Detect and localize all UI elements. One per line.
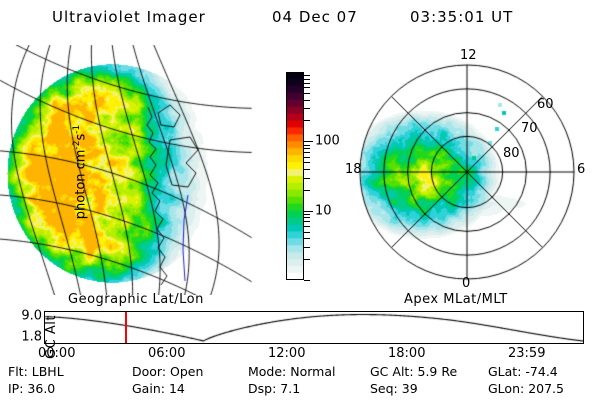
colorbar-tick: [304, 226, 310, 227]
colorbar-tick-label: 100: [315, 135, 340, 148]
colorbar-tick: [304, 100, 310, 101]
colorbar-axis-label: photon cm-2s-1: [72, 72, 88, 272]
status-field-label: Dsp:: [248, 381, 280, 396]
mlat-label-80: 80: [503, 146, 520, 161]
colorbar-tick-label: 10: [315, 204, 332, 217]
status-field-value: 39: [402, 381, 418, 396]
status-field: IP: 36.0: [8, 381, 55, 396]
mlat-label-70: 70: [521, 121, 538, 136]
status-field-value: 207.5: [528, 381, 564, 396]
status-field-label: GLon:: [488, 381, 528, 396]
status-row: Flt: LBHLDoor: OpenMode: NormalGC Alt: 5…: [0, 364, 600, 380]
status-field-label: Door:: [132, 364, 170, 379]
status-field: GLon: 207.5: [488, 381, 564, 396]
geographic-image-panel: [0, 45, 260, 295]
status-field: GLat: -74.4: [488, 364, 558, 379]
orbit-x-tick-label: 23:59: [508, 346, 545, 361]
status-field-label: Mode:: [248, 364, 290, 379]
colorbar-tick: [304, 238, 310, 239]
status-field: Flt: LBHL: [8, 364, 64, 379]
orbit-x-tick-label: 12:00: [268, 346, 305, 361]
status-field-value: 7.1: [280, 381, 300, 396]
status-field-label: IP:: [8, 381, 27, 396]
status-field-value: 14: [169, 381, 185, 396]
colorbar-tick: [304, 93, 310, 94]
colorbar-unit-exp1: -2: [72, 141, 82, 150]
colorbar-tick: [304, 190, 310, 191]
status-row: IP: 36.0Gain: 14Dsp: 7.1Seq: 39GLon: 207…: [0, 381, 600, 397]
colorbar-tick: [304, 157, 310, 158]
status-field-label: GLat:: [488, 364, 525, 379]
current-time-marker: [125, 312, 127, 343]
colorbar-tick: [304, 169, 310, 170]
colorbar-tick: [304, 148, 310, 149]
polar-mlat-mlt-panel: [348, 45, 598, 295]
status-field-label: GC Alt:: [370, 364, 418, 379]
colorbar-unit-main: photon cm: [73, 150, 88, 220]
observation-time: 03:35:01 UT: [410, 8, 513, 26]
polar-panel-caption: Apex MLat/MLT: [404, 292, 508, 307]
colorbar-tick: [304, 87, 310, 88]
colorbar-tick: [304, 108, 310, 109]
colorbar-tick: [304, 83, 310, 84]
geographic-panel-caption: Geographic Lat/Lon: [68, 292, 204, 307]
colorbar-tick: [304, 145, 310, 146]
status-field-value: -74.4: [525, 364, 557, 379]
status-field-value: LBHL: [32, 364, 64, 379]
colorbar-tick: [304, 232, 310, 233]
colorbar-tick: [304, 152, 310, 153]
colorbar-tick: [304, 75, 310, 76]
status-field: Seq: 39: [370, 381, 418, 396]
status-field-value: 36.0: [27, 381, 55, 396]
orbit-y-tick-label: 9.0: [0, 309, 42, 324]
colorbar-unit-exp2: -1: [72, 125, 82, 134]
status-field-label: Seq:: [370, 381, 402, 396]
status-field-label: Gain:: [132, 381, 169, 396]
mlat-label-60: 60: [537, 97, 554, 112]
orbit-y-tick-label: 1.8: [0, 330, 42, 345]
colorbar-major-tick: [304, 211, 313, 212]
mlt-label-0: 0: [462, 276, 470, 291]
colorbar-unit-mid: s: [73, 134, 88, 141]
colorbar-tick: [304, 280, 310, 281]
status-field: Gain: 14: [132, 381, 185, 396]
colorbar-tick: [304, 221, 310, 222]
instrument-title: Ultraviolet Imager: [52, 8, 206, 26]
colorbar-tick: [304, 120, 310, 121]
colorbar-frame: [286, 72, 304, 280]
orbit-x-tick-label: 06:00: [148, 346, 185, 361]
colorbar-tick: [304, 214, 310, 215]
status-field-value: Normal: [290, 364, 335, 379]
status-field-label: Flt:: [8, 364, 32, 379]
colorbar-tick: [304, 162, 310, 163]
status-field: Dsp: 7.1: [248, 381, 300, 396]
mlt-label-18: 18: [345, 162, 362, 177]
mlt-label-6: 6: [577, 162, 585, 177]
colorbar: 10010: [286, 72, 304, 280]
status-field-value: Open: [170, 364, 203, 379]
status-field: Door: Open: [132, 364, 203, 379]
status-field-value: 5.9 Re: [418, 364, 458, 379]
colorbar-tick: [304, 259, 310, 260]
mlt-label-12: 12: [460, 48, 477, 63]
orbit-x-tick-label: 00:00: [38, 346, 75, 361]
status-field: GC Alt: 5.9 Re: [370, 364, 457, 379]
colorbar-major-tick: [304, 141, 313, 142]
colorbar-tick: [304, 178, 310, 179]
colorbar-tick: [304, 79, 310, 80]
colorbar-tick: [304, 247, 310, 248]
status-field: Mode: Normal: [248, 364, 335, 379]
observation-date: 04 Dec 07: [272, 8, 358, 26]
colorbar-tick: [304, 217, 310, 218]
orbit-x-tick-label: 18:00: [388, 346, 425, 361]
